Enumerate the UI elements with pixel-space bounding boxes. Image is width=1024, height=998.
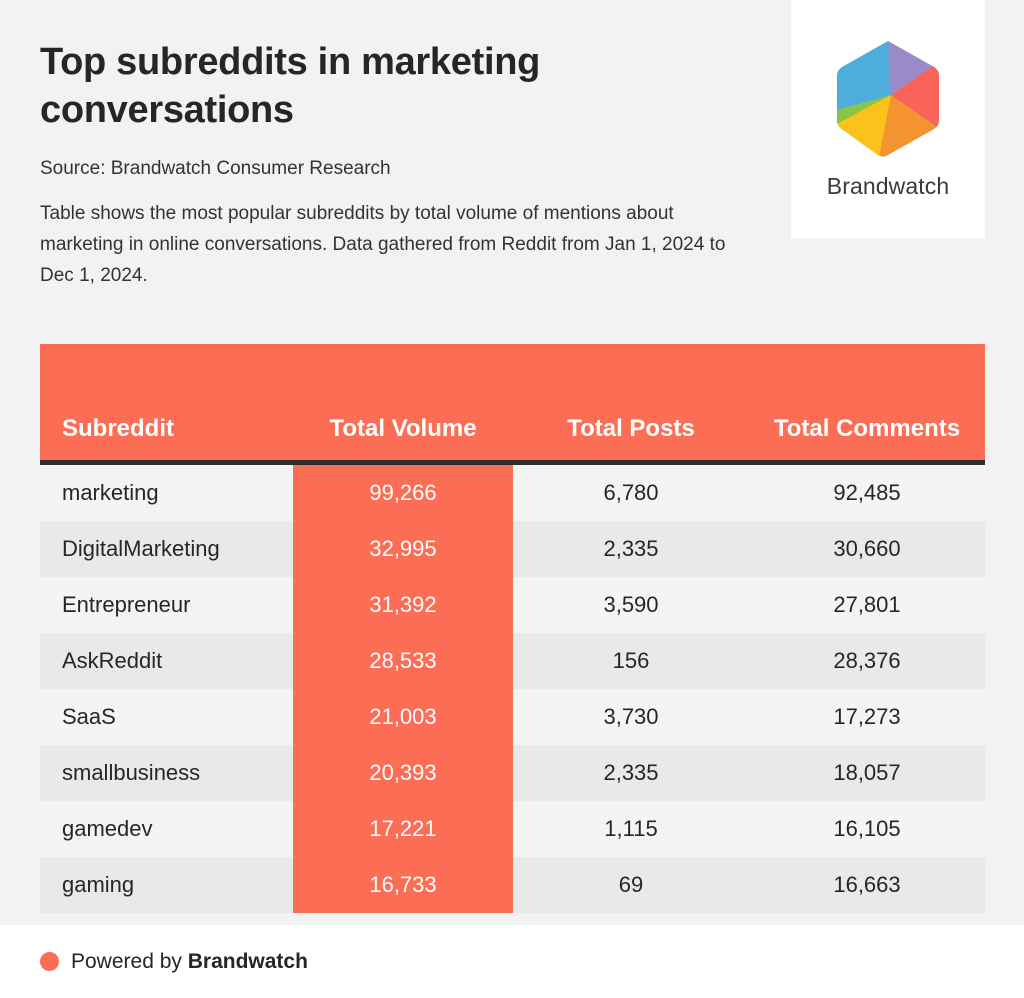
cell-total-comments: 17,273 (749, 689, 985, 745)
description-text: Table shows the most popular subreddits … (40, 198, 750, 291)
table-row: smallbusiness 20,393 2,335 18,057 (40, 745, 985, 801)
brand-card: Brandwatch (791, 0, 985, 238)
cell-total-posts: 3,590 (513, 577, 749, 633)
footer-bar: Powered by Brandwatch (0, 925, 1024, 998)
cell-total-comments: 16,105 (749, 801, 985, 857)
table-row: SaaS 21,003 3,730 17,273 (40, 689, 985, 745)
powered-by-brand: Brandwatch (188, 950, 308, 973)
data-table-container: Subreddit Total Volume Total Posts Total… (40, 344, 985, 913)
table-row: gaming 16,733 69 16,663 (40, 857, 985, 913)
cell-subreddit: smallbusiness (40, 745, 293, 801)
cell-total-posts: 2,335 (513, 521, 749, 577)
column-header-total-posts: Total Posts (513, 344, 749, 463)
cell-total-volume: 31,392 (293, 577, 513, 633)
cell-subreddit: gamedev (40, 801, 293, 857)
table-row: DigitalMarketing 32,995 2,335 30,660 (40, 521, 985, 577)
table-row: AskReddit 28,533 156 28,376 (40, 633, 985, 689)
cell-total-comments: 28,376 (749, 633, 985, 689)
column-header-total-volume: Total Volume (293, 344, 513, 463)
cell-total-volume: 17,221 (293, 801, 513, 857)
powered-by-block: Powered by Brandwatch (40, 950, 308, 974)
cell-total-comments: 18,057 (749, 745, 985, 801)
cell-total-volume: 21,003 (293, 689, 513, 745)
cell-total-posts: 2,335 (513, 745, 749, 801)
cell-subreddit: AskReddit (40, 633, 293, 689)
brand-wordmark: Brandwatch (827, 173, 949, 200)
cell-subreddit: DigitalMarketing (40, 521, 293, 577)
subreddit-table: Subreddit Total Volume Total Posts Total… (40, 344, 985, 913)
table-row: Entrepreneur 31,392 3,590 27,801 (40, 577, 985, 633)
cell-total-posts: 3,730 (513, 689, 749, 745)
cell-total-volume: 16,733 (293, 857, 513, 913)
column-header-total-comments: Total Comments (749, 344, 985, 463)
cell-total-posts: 1,115 (513, 801, 749, 857)
cell-total-comments: 92,485 (749, 463, 985, 522)
brand-dot-icon (40, 952, 59, 971)
cell-subreddit: SaaS (40, 689, 293, 745)
powered-by-text: Powered by Brandwatch (71, 950, 308, 974)
cell-total-volume: 20,393 (293, 745, 513, 801)
infographic-page: Top subreddits in marketing conversation… (0, 0, 1024, 998)
cell-total-posts: 6,780 (513, 463, 749, 522)
cell-total-comments: 27,801 (749, 577, 985, 633)
cell-total-posts: 69 (513, 857, 749, 913)
table-header: Subreddit Total Volume Total Posts Total… (40, 344, 985, 463)
cell-total-volume: 32,995 (293, 521, 513, 577)
cell-subreddit: marketing (40, 463, 293, 522)
header-block: Top subreddits in marketing conversation… (40, 38, 760, 291)
brandwatch-hexagon-icon (833, 39, 943, 157)
cell-total-comments: 30,660 (749, 521, 985, 577)
cell-total-volume: 28,533 (293, 633, 513, 689)
cell-subreddit: Entrepreneur (40, 577, 293, 633)
cell-subreddit: gaming (40, 857, 293, 913)
column-header-subreddit: Subreddit (40, 344, 293, 463)
cell-total-volume: 99,266 (293, 463, 513, 522)
cell-total-posts: 156 (513, 633, 749, 689)
table-row: gamedev 17,221 1,115 16,105 (40, 801, 985, 857)
table-row: marketing 99,266 6,780 92,485 (40, 463, 985, 522)
table-header-row: Subreddit Total Volume Total Posts Total… (40, 344, 985, 463)
page-title: Top subreddits in marketing conversation… (40, 38, 640, 134)
cell-total-comments: 16,663 (749, 857, 985, 913)
table-body: marketing 99,266 6,780 92,485 DigitalMar… (40, 463, 985, 914)
source-line: Source: Brandwatch Consumer Research (40, 156, 760, 182)
powered-by-prefix: Powered by (71, 950, 188, 973)
